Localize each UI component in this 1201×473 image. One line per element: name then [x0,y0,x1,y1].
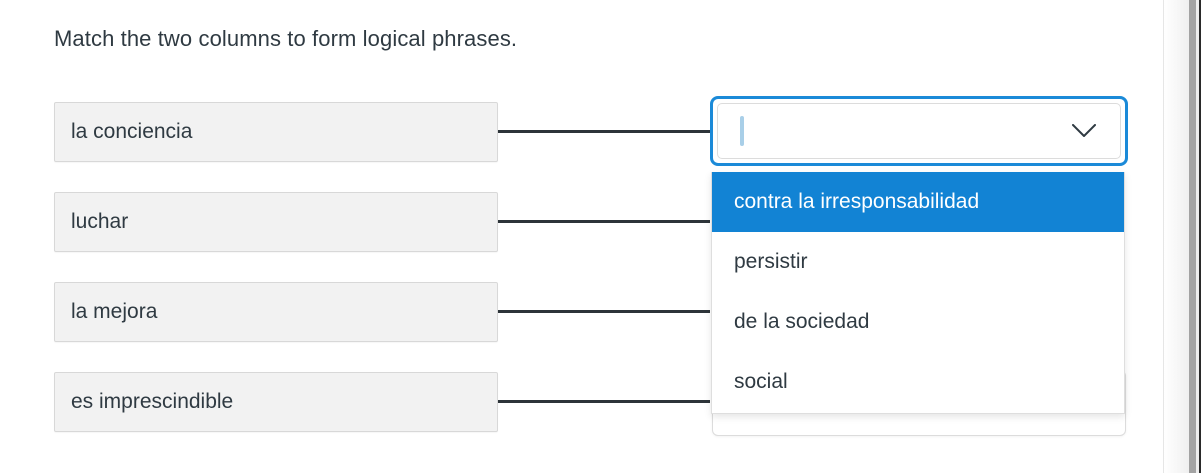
term-label: la mejora [71,299,157,325]
dropdown-option-2[interactable]: persistir [712,232,1124,292]
page-scrollbar[interactable] [1163,0,1201,473]
term-item-3[interactable]: la mejora [54,282,498,342]
left-column: la conciencia luchar la mejora es impres… [54,102,498,432]
option-label: de la sociedad [734,309,869,335]
connector-line-2 [498,220,710,223]
term-item-4[interactable]: es imprescindible [54,372,498,432]
instruction-text: Match the two columns to form logical ph… [54,24,517,54]
dropdown-option-1[interactable]: contra la irresponsabilidad [712,172,1124,232]
option-label: social [734,369,788,395]
dropdown-option-3[interactable]: de la sociedad [712,292,1124,352]
scrollbar-thumb[interactable] [1189,0,1196,473]
match-select-1[interactable] [710,96,1128,166]
term-item-1[interactable]: la conciencia [54,102,498,162]
dropdown-options-list[interactable]: contra la irresponsabilidad persistir de… [711,172,1125,414]
text-caret [740,116,744,146]
chevron-down-icon[interactable] [1072,124,1096,138]
option-label: persistir [734,249,808,275]
connector-line-4 [498,400,710,403]
connector-line-3 [498,310,710,313]
option-label: contra la irresponsabilidad [734,189,979,215]
exercise-page: Match the two columns to form logical ph… [0,0,1163,473]
term-label: es imprescindible [71,389,233,415]
connector-line-1 [498,130,710,133]
term-label: la conciencia [71,119,192,145]
term-item-2[interactable]: luchar [54,192,498,252]
dropdown-option-4[interactable]: social [712,352,1124,412]
term-label: luchar [71,209,128,235]
combobox-field[interactable] [717,103,1121,159]
